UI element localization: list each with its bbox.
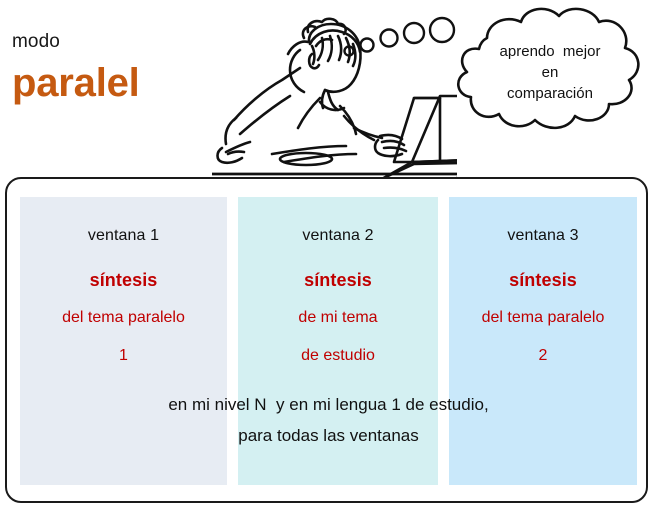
thought-dots-icon <box>340 8 458 64</box>
window-column-1-title: ventana 1 <box>20 225 227 247</box>
thought-bubble-shape <box>443 2 657 137</box>
thought-bubble: aprendo mejor en comparación <box>443 2 657 137</box>
window-column-2-description: de mi tema <box>238 306 438 330</box>
window-column-1-number: 1 <box>20 344 227 368</box>
window-column-3-content: ventana 3 síntesis del tema paralelo 2 <box>449 197 637 368</box>
window-column-1[interactable]: ventana 1 síntesis del tema paralelo 1 <box>20 197 227 485</box>
windows-panel: ventana 1 síntesis del tema paralelo 1 v… <box>5 177 648 503</box>
window-column-1-content: ventana 1 síntesis del tema paralelo 1 <box>20 197 227 368</box>
window-column-2-title: ventana 2 <box>238 225 438 247</box>
title-block: modo paralel <box>12 30 212 108</box>
mode-label: modo <box>12 30 212 54</box>
window-column-2[interactable]: ventana 2 síntesis de mi tema de estudio <box>238 197 438 485</box>
window-column-2-number: de estudio <box>238 344 438 368</box>
window-column-3-number: 2 <box>449 344 637 368</box>
window-column-3-description: del tema paralelo <box>449 306 637 330</box>
window-column-3-title: ventana 3 <box>449 225 637 247</box>
window-column-2-content: ventana 2 síntesis de mi tema de estudio <box>238 197 438 368</box>
window-column-2-synthesis: síntesis <box>238 268 438 292</box>
window-column-3-synthesis: síntesis <box>449 268 637 292</box>
window-column-1-description: del tema paralelo <box>20 306 227 330</box>
window-column-1-synthesis: síntesis <box>20 268 227 292</box>
window-column-3[interactable]: ventana 3 síntesis del tema paralelo 2 <box>449 197 637 485</box>
columns-row: ventana 1 síntesis del tema paralelo 1 v… <box>7 179 646 501</box>
mode-value: paralel <box>12 58 212 108</box>
header-area: modo paralel <box>0 0 657 177</box>
